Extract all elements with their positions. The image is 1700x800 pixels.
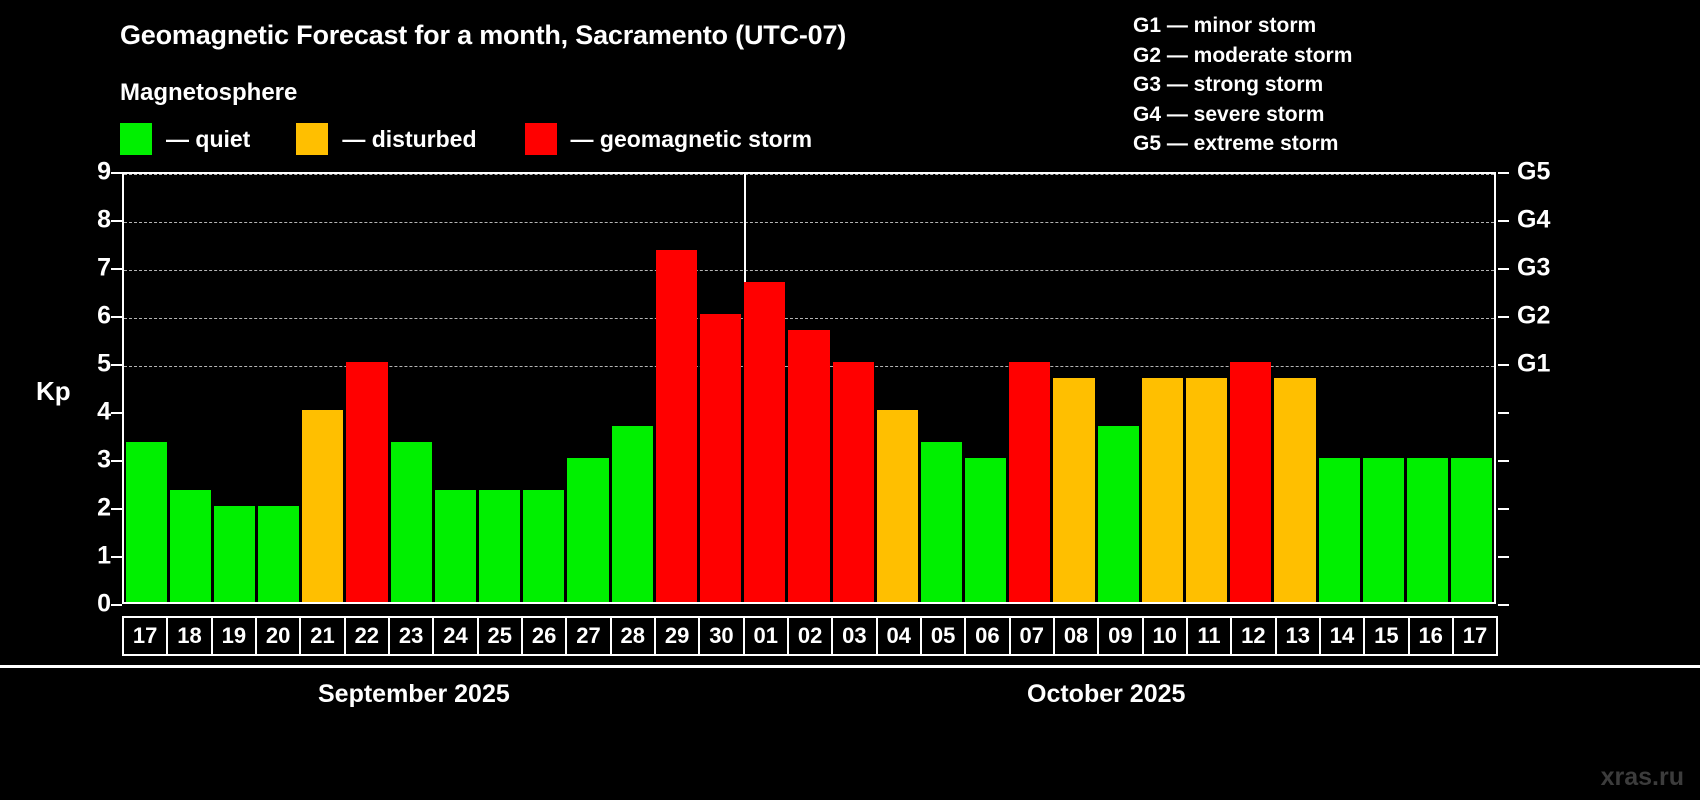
date-label-29[interactable]: 16 [1408,616,1454,656]
y-tick-label-6: 6 [97,302,111,331]
g-tick-g3 [1498,268,1509,270]
legend-item-disturbed: — disturbed [296,123,476,155]
bar-29[interactable] [656,250,697,602]
bar-14[interactable] [1319,458,1360,602]
legend-label-storm: — geomagnetic storm [571,126,813,153]
legend-item-quiet: — quiet [120,123,250,155]
date-label-17[interactable]: 04 [876,616,922,656]
y-tick-6 [111,316,122,318]
date-label-18[interactable]: 05 [920,616,966,656]
bar-11[interactable] [1186,378,1227,602]
bar-28[interactable] [612,426,653,602]
y-tick-8 [111,220,122,222]
g-axis-minor-tick-2 [1498,508,1509,510]
bar-30[interactable] [700,314,741,602]
date-label-11[interactable]: 28 [610,616,656,656]
y-tick-label-8: 8 [97,206,111,235]
section-label-magnetosphere: Magnetosphere [120,79,297,107]
y-tick-9 [111,172,122,174]
g-scale-line-g1: G1 — minor storm [1133,11,1352,41]
date-label-8[interactable]: 25 [477,616,523,656]
y-tick-7 [111,268,122,270]
bar-07[interactable] [1009,362,1050,602]
legend-swatch-quiet [120,123,152,155]
bar-04[interactable] [877,410,918,602]
date-label-24[interactable]: 11 [1186,616,1232,656]
date-label-2[interactable]: 19 [211,616,257,656]
g-tick-g1 [1498,364,1509,366]
date-label-13[interactable]: 30 [698,616,744,656]
g-tick-label-g4: G4 [1517,206,1550,235]
g-tick-label-g3: G3 [1517,254,1550,283]
bar-23[interactable] [391,442,432,602]
y-tick-label-7: 7 [97,254,111,283]
legend-item-storm: — geomagnetic storm [525,123,813,155]
g-tick-label-g5: G5 [1517,158,1550,187]
date-label-6[interactable]: 23 [388,616,434,656]
date-label-19[interactable]: 06 [964,616,1010,656]
bar-26[interactable] [523,490,564,602]
month-label-october: October 2025 [1027,680,1185,709]
chart-root: Geomagnetic Forecast for a month, Sacram… [0,0,1700,800]
date-label-20[interactable]: 07 [1009,616,1055,656]
y-tick-label-2: 2 [97,494,111,523]
g-scale-legend: G1 — minor storm G2 — moderate storm G3 … [1133,11,1352,159]
bar-21[interactable] [302,410,343,602]
legend-label-quiet: — quiet [166,126,250,153]
y-tick-0 [111,604,122,606]
y-tick-4 [111,412,122,414]
g-axis-minor-tick-3 [1498,460,1509,462]
watermark: xras.ru [1601,763,1684,792]
g-scale-line-g3: G3 — strong storm [1133,70,1352,100]
date-label-14[interactable]: 01 [743,616,789,656]
date-label-1[interactable]: 18 [166,616,212,656]
date-label-21[interactable]: 08 [1053,616,1099,656]
date-label-15[interactable]: 02 [787,616,833,656]
bar-16[interactable] [1407,458,1448,602]
g-scale-line-g2: G2 — moderate storm [1133,41,1352,71]
bar-06[interactable] [965,458,1006,602]
y-tick-2 [111,508,122,510]
date-label-10[interactable]: 27 [565,616,611,656]
g-scale-line-g5: G5 — extreme storm [1133,129,1352,159]
date-label-27[interactable]: 14 [1319,616,1365,656]
bar-27[interactable] [567,458,608,602]
date-label-30[interactable]: 17 [1452,616,1498,656]
date-label-3[interactable]: 20 [255,616,301,656]
date-label-25[interactable]: 12 [1230,616,1276,656]
g-tick-label-g1: G1 [1517,350,1550,379]
y-tick-label-9: 9 [97,158,111,187]
date-label-9[interactable]: 26 [521,616,567,656]
bar-13[interactable] [1274,378,1315,602]
date-label-5[interactable]: 22 [344,616,390,656]
date-label-22[interactable]: 09 [1097,616,1143,656]
bar-22[interactable] [346,362,387,602]
bar-18[interactable] [170,490,211,602]
g-axis-minor-tick-1 [1498,556,1509,558]
bar-20[interactable] [258,506,299,602]
date-label-12[interactable]: 29 [654,616,700,656]
legend-swatch-disturbed [296,123,328,155]
y-tick-1 [111,556,122,558]
date-label-23[interactable]: 10 [1142,616,1188,656]
bar-19[interactable] [214,506,255,602]
bar-08[interactable] [1053,378,1094,602]
date-label-0[interactable]: 17 [122,616,168,656]
date-label-4[interactable]: 21 [299,616,345,656]
legend: — quiet — disturbed — geomagnetic storm [120,122,812,156]
bar-24[interactable] [435,490,476,602]
bar-series [124,174,1494,602]
y-tick-label-3: 3 [97,446,111,475]
y-tick-label-5: 5 [97,350,111,379]
bar-03[interactable] [833,362,874,602]
legend-label-disturbed: — disturbed [342,126,476,153]
month-label-september: September 2025 [318,680,510,709]
bar-15[interactable] [1363,458,1404,602]
bar-12[interactable] [1230,362,1271,602]
date-label-16[interactable]: 03 [831,616,877,656]
g-tick-g5 [1498,172,1509,174]
date-label-26[interactable]: 13 [1275,616,1321,656]
date-axis: 1718192021222324252627282930010203040506… [122,616,1496,656]
y-tick-3 [111,460,122,462]
g-axis-minor-tick-0 [1498,604,1509,606]
g-tick-g4 [1498,220,1509,222]
g-tick-label-g2: G2 [1517,302,1550,331]
y-tick-label-0: 0 [97,590,111,619]
bar-09[interactable] [1098,426,1139,602]
bar-02[interactable] [788,330,829,602]
y-tick-5 [111,364,122,366]
axis-baseline [0,665,1700,668]
bar-17[interactable] [1451,458,1492,602]
y-axis-title: Kp [36,376,71,407]
bar-25[interactable] [479,490,520,602]
y-tick-label-4: 4 [97,398,111,427]
g-tick-g2 [1498,316,1509,318]
y-tick-label-1: 1 [97,542,111,571]
g-scale-line-g4: G4 — severe storm [1133,100,1352,130]
bar-17[interactable] [126,442,167,602]
date-label-28[interactable]: 15 [1363,616,1409,656]
bar-01[interactable] [744,282,785,602]
date-label-7[interactable]: 24 [432,616,478,656]
page-title: Geomagnetic Forecast for a month, Sacram… [120,20,846,51]
plot-area [122,172,1496,604]
bar-05[interactable] [921,442,962,602]
g-axis-minor-tick-4 [1498,412,1509,414]
legend-swatch-storm [525,123,557,155]
bar-10[interactable] [1142,378,1183,602]
